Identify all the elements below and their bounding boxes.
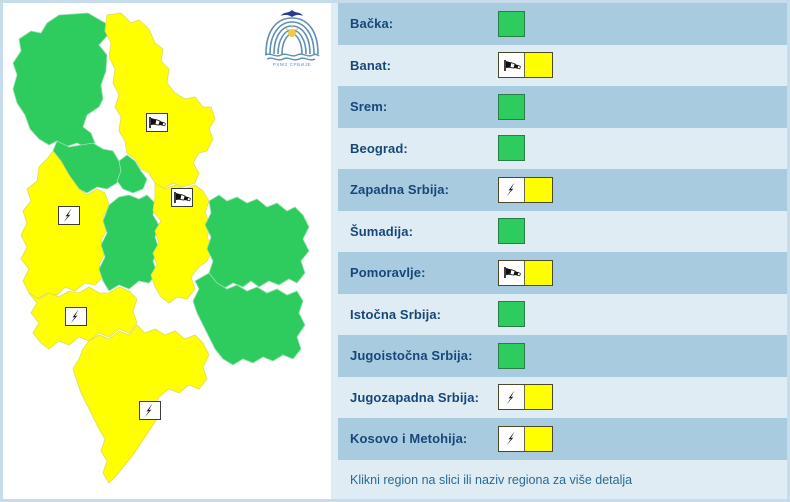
map-region-sumadija[interactable] bbox=[99, 195, 159, 291]
map-marker-windsock-banat[interactable] bbox=[146, 113, 168, 132]
region-row-pomoravlje[interactable]: Pomoravlje: bbox=[338, 252, 787, 294]
warning-level-swatch-green bbox=[498, 135, 525, 161]
region-row-istocna-srbija[interactable]: Istočna Srbija: bbox=[338, 294, 787, 336]
region-warning-badge[interactable] bbox=[498, 218, 525, 244]
region-label[interactable]: Zapadna Srbija: bbox=[350, 182, 488, 197]
region-warning-badge[interactable] bbox=[498, 135, 525, 161]
region-warning-badge[interactable] bbox=[498, 177, 553, 203]
warning-level-swatch-yellow bbox=[525, 178, 552, 202]
region-row-zapadna-srbija[interactable]: Zapadna Srbija: bbox=[338, 169, 787, 211]
lightning-icon bbox=[140, 402, 160, 419]
region-label[interactable]: Beograd: bbox=[350, 141, 488, 156]
meteoalarm-warning-widget: РХМЗ СРБИЈЕ bbox=[0, 0, 790, 502]
region-row-jugoistocna-srbija[interactable]: Jugoistočna Srbija: bbox=[338, 335, 787, 377]
region-label[interactable]: Srem: bbox=[350, 99, 488, 114]
region-warning-badge[interactable] bbox=[498, 52, 553, 78]
region-label[interactable]: Jugoistočna Srbija: bbox=[350, 348, 488, 363]
region-warning-badge[interactable] bbox=[498, 426, 553, 452]
lightning-icon bbox=[66, 308, 86, 325]
warning-icon-cell bbox=[499, 427, 525, 451]
region-warning-badge[interactable] bbox=[498, 301, 525, 327]
warning-level-swatch-green bbox=[498, 11, 525, 37]
warning-icon-cell bbox=[499, 261, 525, 285]
map-region-istocna-srbija[interactable] bbox=[205, 195, 309, 289]
region-label[interactable]: Kosovo i Metohija: bbox=[350, 431, 488, 446]
region-label[interactable]: Banat: bbox=[350, 58, 488, 73]
warning-badge-pair[interactable] bbox=[498, 52, 553, 78]
footer-hint: Klikni region na slici ili naziv regiona… bbox=[338, 460, 787, 500]
footer-hint-text: Klikni region na slici ili naziv regiona… bbox=[350, 473, 632, 487]
region-label[interactable]: Jugozapadna Srbija: bbox=[350, 390, 488, 405]
rhmz-logo: РХМЗ СРБИЈЕ bbox=[261, 8, 323, 68]
warning-level-swatch-yellow bbox=[525, 427, 552, 451]
region-warning-badge[interactable] bbox=[498, 11, 525, 37]
warning-badge-pair[interactable] bbox=[498, 426, 553, 452]
serbia-map[interactable] bbox=[3, 3, 331, 499]
warning-level-swatch-yellow bbox=[525, 385, 552, 409]
map-marker-windsock-pomoravlje[interactable] bbox=[171, 188, 193, 207]
lightning-icon bbox=[502, 181, 522, 198]
region-row-banat[interactable]: Banat: bbox=[338, 45, 787, 87]
region-row-kosovo-i-metohija[interactable]: Kosovo i Metohija: bbox=[338, 418, 787, 460]
warning-badge-pair[interactable] bbox=[498, 384, 553, 410]
lightning-icon bbox=[502, 430, 522, 447]
region-row-beograd[interactable]: Beograd: bbox=[338, 128, 787, 170]
region-row-srem[interactable]: Srem: bbox=[338, 86, 787, 128]
region-row-sumadija[interactable]: Šumadija: bbox=[338, 211, 787, 253]
region-row-jugozapadna-srbija[interactable]: Jugozapadna Srbija: bbox=[338, 377, 787, 419]
map-panel: РХМЗ СРБИЈЕ bbox=[0, 0, 331, 502]
warning-icon-cell bbox=[499, 385, 525, 409]
region-warning-list: Bačka:Banat:Srem:Beograd:Zapadna Srbija:… bbox=[331, 0, 790, 502]
region-label[interactable]: Istočna Srbija: bbox=[350, 307, 488, 322]
warning-icon-cell bbox=[499, 53, 525, 77]
windsock-icon bbox=[502, 264, 522, 281]
warning-level-swatch-green bbox=[498, 94, 525, 120]
map-region-backa[interactable] bbox=[13, 13, 107, 147]
warning-badge-pair[interactable] bbox=[498, 177, 553, 203]
region-label[interactable]: Bačka: bbox=[350, 16, 488, 31]
logo-caption: РХМЗ СРБИЈЕ bbox=[273, 62, 311, 67]
map-region-jugoistocna-srbija[interactable] bbox=[193, 273, 305, 365]
map-marker-lightning-kosovo-i-metohija[interactable] bbox=[139, 401, 161, 420]
warning-icon-cell bbox=[499, 178, 525, 202]
warning-level-swatch-yellow bbox=[525, 261, 552, 285]
windsock-icon bbox=[502, 57, 522, 74]
region-warning-badge[interactable] bbox=[498, 343, 525, 369]
map-marker-lightning-jugozapadna-srbija[interactable] bbox=[65, 307, 87, 326]
warning-level-swatch-green bbox=[498, 301, 525, 327]
lightning-icon bbox=[59, 207, 79, 224]
lightning-icon bbox=[502, 389, 522, 406]
region-label[interactable]: Šumadija: bbox=[350, 224, 488, 239]
region-warning-badge[interactable] bbox=[498, 94, 525, 120]
region-label[interactable]: Pomoravlje: bbox=[350, 265, 488, 280]
region-row-backa[interactable]: Bačka: bbox=[338, 3, 787, 45]
region-warning-badge[interactable] bbox=[498, 260, 553, 286]
warning-level-swatch-green bbox=[498, 218, 525, 244]
warning-level-swatch-green bbox=[498, 343, 525, 369]
windsock-icon bbox=[147, 114, 167, 131]
map-marker-lightning-zapadna-srbija[interactable] bbox=[58, 206, 80, 225]
windsock-icon bbox=[172, 189, 192, 206]
region-rows: Bačka:Banat:Srem:Beograd:Zapadna Srbija:… bbox=[338, 3, 787, 460]
warning-badge-pair[interactable] bbox=[498, 260, 553, 286]
region-warning-badge[interactable] bbox=[498, 384, 553, 410]
warning-level-swatch-yellow bbox=[525, 53, 552, 77]
